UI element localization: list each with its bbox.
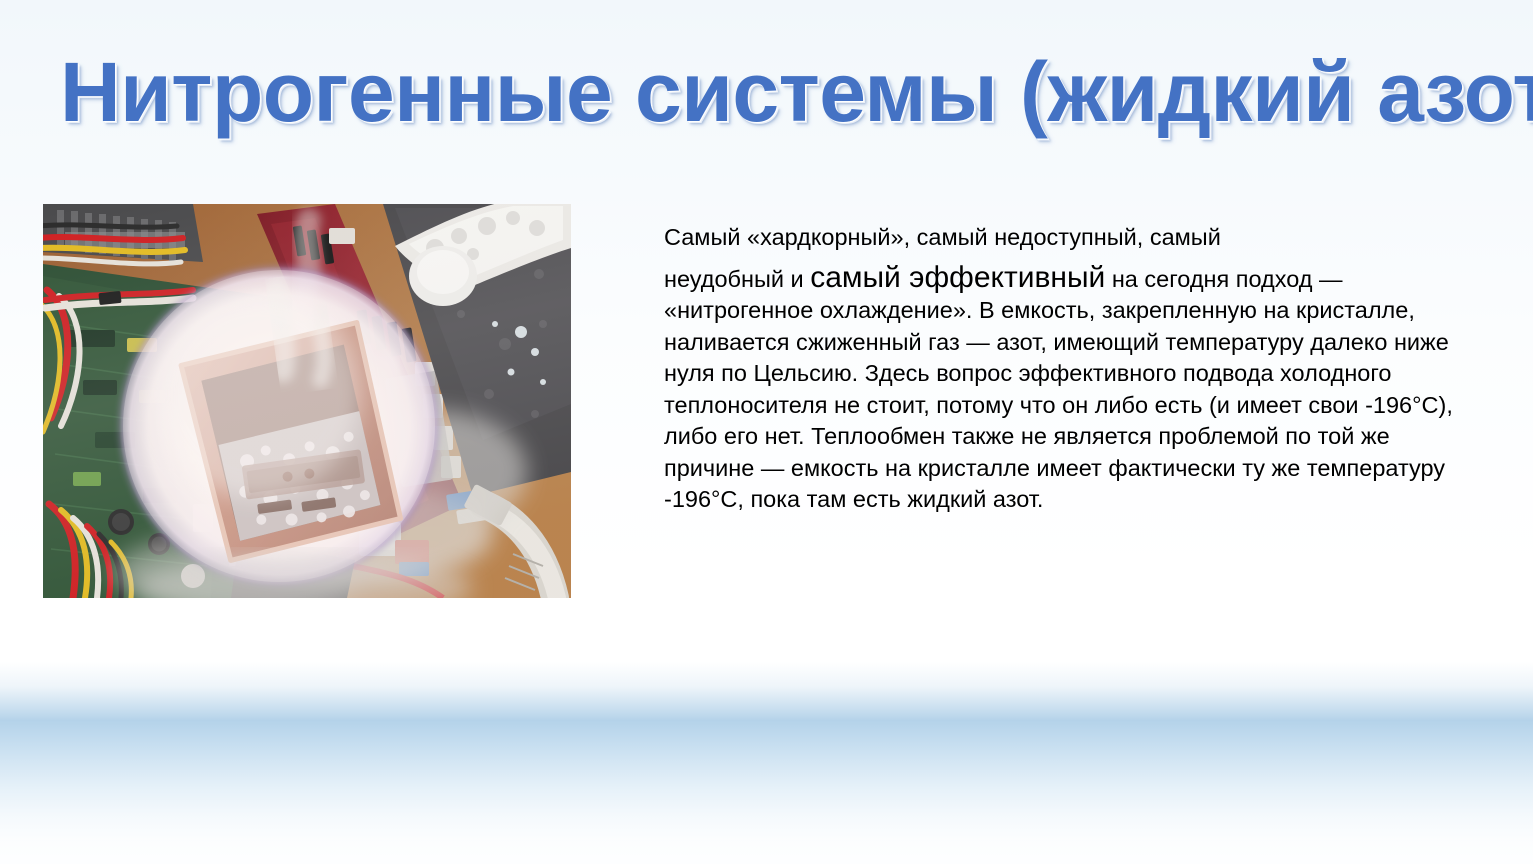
bottom-gradient-band [0, 662, 1533, 864]
body-paragraph: Самый «хардкорный», самый недоступный, с… [664, 222, 1484, 516]
body-line-1: Самый «хардкорный», самый недоступный, с… [664, 222, 1484, 254]
body-part2-post: на сегодня подход — «нитрогенное охлажде… [664, 266, 1453, 513]
photo-illustration [43, 204, 571, 598]
page-title: Нитрогенные системы (жидкий азот) [60, 46, 1480, 138]
slide: Нитрогенные системы (жидкий азот) [0, 0, 1533, 864]
body-emphasis: самый эффективный [810, 261, 1105, 294]
body-part2-pre: неудобный и [664, 266, 810, 292]
liquid-nitrogen-photo [43, 204, 571, 598]
bottom-gradient-tail [0, 840, 1533, 864]
